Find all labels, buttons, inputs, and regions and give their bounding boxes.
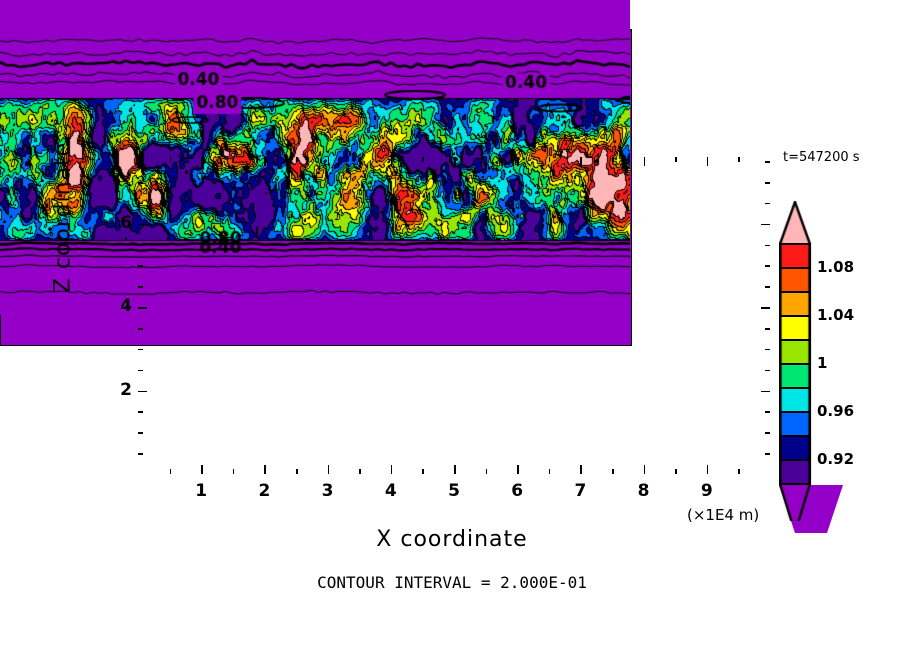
axis-tick-mark [296,469,298,474]
axis-tick-mark [580,465,582,474]
colorbar-tick-label: 1 [817,354,827,372]
axis-tick-mark [517,157,519,166]
axis-tick-mark [138,245,143,247]
axis-tick-mark [138,411,143,413]
time-label: t=547200 s [783,150,860,165]
colorbar[interactable]: 1.081.0410.960.92 [779,201,813,521]
axis-tick-mark [391,157,393,166]
axis-tick-mark [612,469,614,474]
axis-tick-mark [138,203,143,205]
y-tick-label: 6 [102,213,132,233]
axis-tick-mark [765,161,770,163]
axis-tick-mark [761,224,770,226]
axis-tick-mark [201,157,203,166]
axis-tick-mark [138,182,143,184]
axis-tick-mark [517,465,519,474]
axis-tick-mark [296,157,298,162]
y-axis-title: Z coordinate [51,103,76,333]
axis-tick-mark [454,157,456,166]
axis-tick-mark [549,469,551,474]
axis-tick-mark [675,469,677,474]
colorbar-tick-label: 1.08 [817,258,854,276]
axis-tick-mark [138,307,147,309]
x-axis-title: X coordinate [0,527,904,552]
axis-tick-mark [675,157,677,162]
x-axis-unit-label: (×1E4 m) [687,506,759,524]
axis-tick-mark [761,307,770,309]
axis-tick-mark [707,157,709,166]
axis-tick-mark [170,469,172,474]
axis-tick-mark [644,465,646,474]
axis-tick-mark [233,469,235,474]
x-tick-label: 9 [695,481,719,501]
colorbar-outline [779,201,813,521]
axis-tick-mark [765,286,770,288]
axis-tick-mark [580,157,582,166]
axis-tick-mark [359,469,361,474]
colorbar-tick-label: 1.04 [817,306,854,324]
axis-tick-mark [138,161,143,163]
axis-tick-mark [765,349,770,351]
axis-tick-mark [486,157,488,162]
x-tick-label: 7 [568,481,592,501]
axis-tick-mark [264,157,266,166]
saturation-ratio-field [0,29,630,315]
axis-tick-mark [612,157,614,162]
x-tick-label: 4 [379,481,403,501]
axis-tick-mark [138,349,143,351]
axis-tick-mark [138,328,143,330]
axis-tick-mark [138,265,143,267]
axis-tick-mark [233,157,235,162]
contour-interval-note: CONTOUR INTERVAL = 2.000E-01 [0,573,904,592]
axis-tick-mark [707,465,709,474]
axis-tick-mark [644,157,646,166]
y-tick-label: 2 [102,380,132,400]
axis-tick-mark [549,157,551,162]
axis-tick-mark [486,469,488,474]
axis-tick-mark [328,465,330,474]
axis-tick-mark [138,391,147,393]
axis-tick-mark [738,469,740,474]
y-tick-label: 4 [102,296,132,316]
axis-tick-mark [359,157,361,162]
colorbar-tick-label: 0.96 [817,402,854,420]
axis-tick-mark [391,465,393,474]
axis-tick-mark [765,245,770,247]
x-tick-label: 3 [316,481,340,501]
x-tick-label: 1 [189,481,213,501]
axis-tick-mark [765,432,770,434]
axis-tick-mark [422,469,424,474]
colorbar-tick-label: 0.92 [817,450,854,468]
axis-tick-mark [761,391,770,393]
axis-tick-mark [765,265,770,267]
axis-tick-mark [454,465,456,474]
axis-tick-mark [138,432,143,434]
axis-tick-mark [170,157,172,162]
axis-tick-mark [765,453,770,455]
axis-tick-mark [264,465,266,474]
x-tick-label: 5 [442,481,466,501]
axis-tick-mark [765,203,770,205]
axis-tick-mark [765,370,770,372]
axis-tick-mark [765,328,770,330]
axis-tick-mark [422,157,424,162]
x-tick-label: 2 [252,481,276,501]
axis-tick-mark [328,157,330,166]
axis-tick-mark [138,453,143,455]
axis-tick-mark [138,286,143,288]
x-tick-label: 6 [505,481,529,501]
axis-tick-mark [738,157,740,162]
axis-tick-mark [201,465,203,474]
axis-tick-mark [138,224,147,226]
axis-tick-mark [765,411,770,413]
axis-tick-mark [138,370,143,372]
x-tick-label: 8 [632,481,656,501]
contour-plot-area[interactable] [0,29,632,346]
axis-tick-mark [765,182,770,184]
